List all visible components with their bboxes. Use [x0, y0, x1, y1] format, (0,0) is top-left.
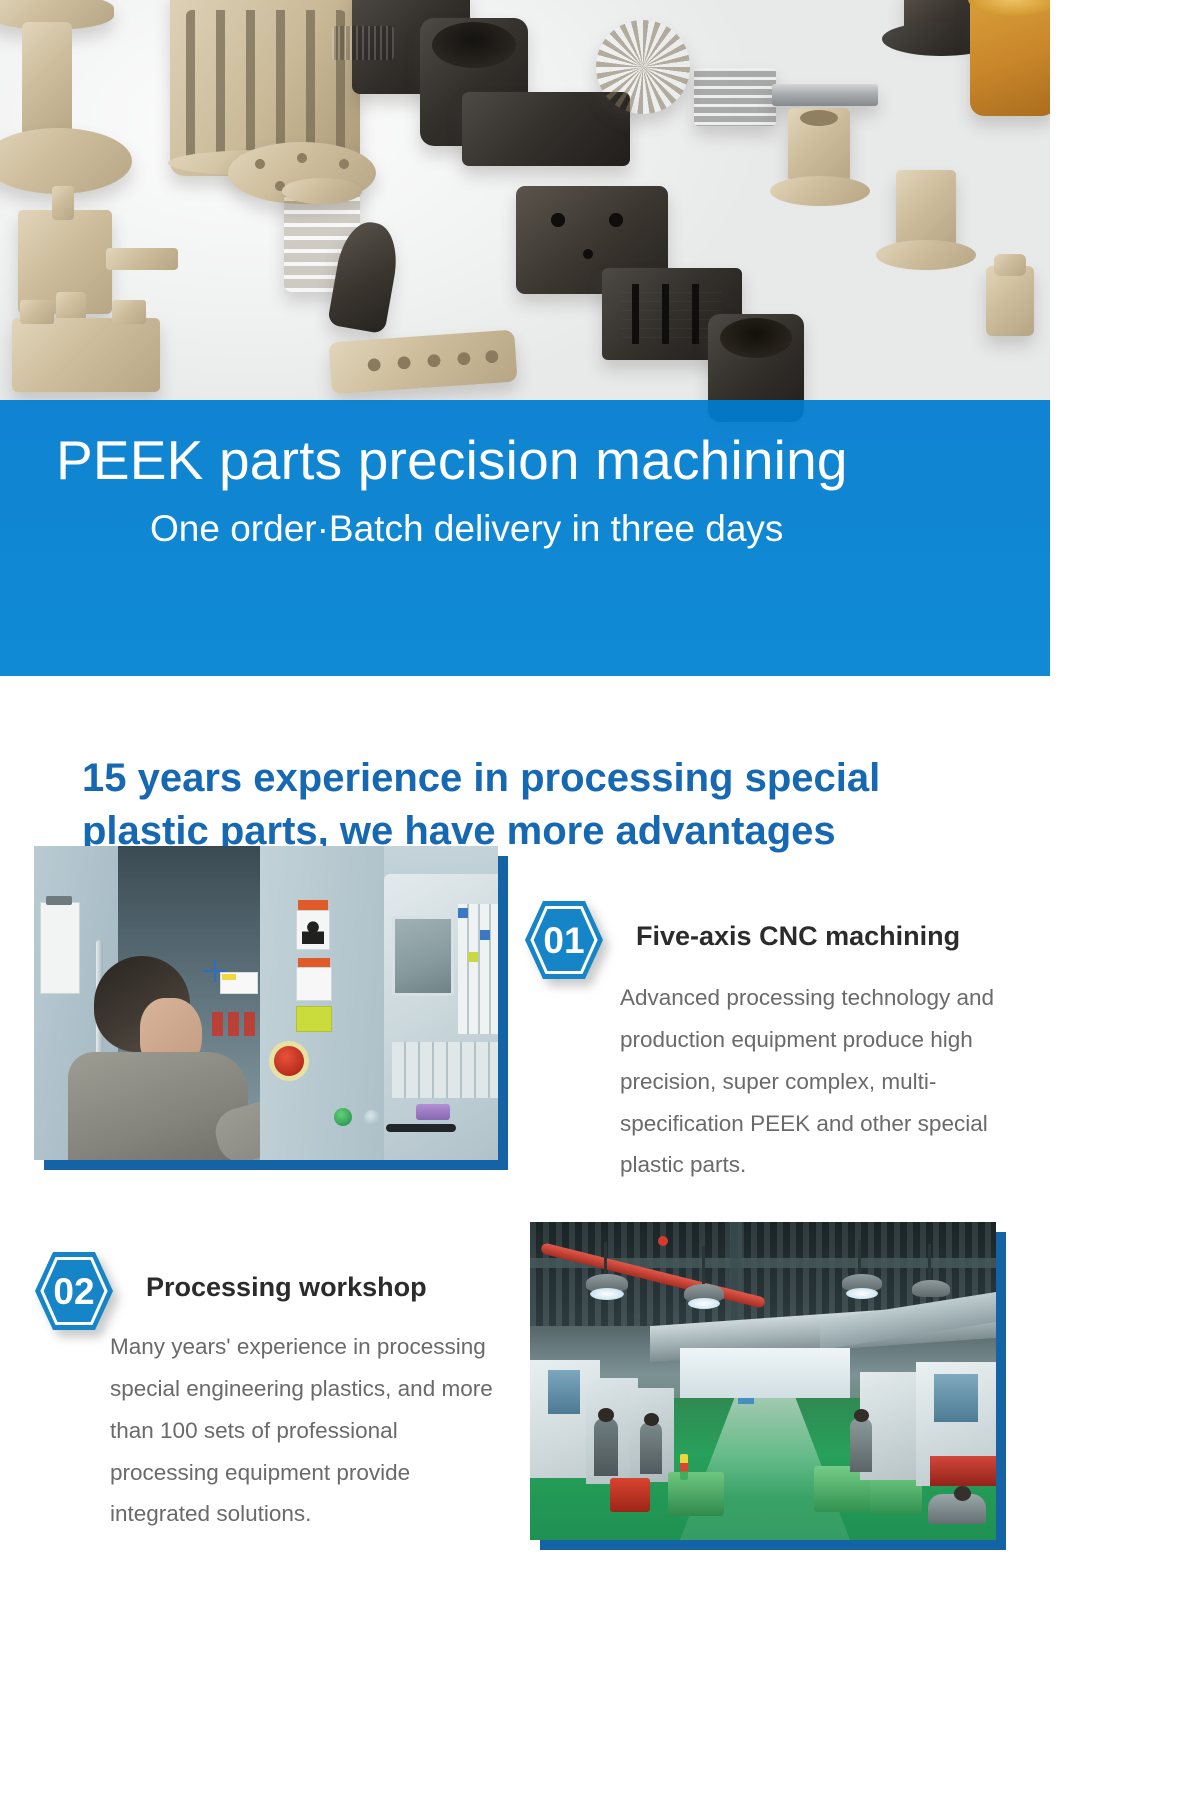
feature-02-photo — [530, 1222, 996, 1540]
cage-slot-group — [186, 10, 346, 160]
feature-02-badge: 02 — [32, 1249, 116, 1333]
feature-02-badge-number: 02 — [53, 1271, 94, 1312]
part-splined-hub — [694, 68, 776, 126]
manifold-spigot-h — [106, 248, 178, 270]
advantages-heading-line1: 15 years experience in processing specia… — [82, 752, 1042, 805]
hero-section: PEEK parts precision machining One order… — [0, 0, 1050, 676]
feature-02-title: Processing workshop — [146, 1272, 427, 1303]
plate-hole-pattern — [540, 206, 644, 272]
feature-02-photo-image — [530, 1222, 996, 1540]
feature-01-badge: 01 — [522, 898, 606, 982]
manifold-spigot-v — [52, 186, 74, 220]
bushing-bore — [800, 110, 838, 126]
part-tan-plug-cap — [994, 254, 1026, 276]
part-threaded-nipple — [332, 26, 394, 60]
feature-01-photo-image — [34, 846, 498, 1160]
part-tan-bushing-b — [896, 170, 956, 246]
dark-socket-bore — [720, 318, 792, 358]
feature-01-body: Advanced processing technology and produ… — [620, 977, 1032, 1186]
bracket-tab-left — [20, 300, 54, 324]
drilled-plate-holes — [622, 284, 722, 344]
bracket-tab-right — [112, 300, 146, 324]
part-metal-shaft — [772, 84, 878, 106]
part-tan-bushing-b-flange — [876, 240, 976, 270]
part-hydraulic-block — [462, 92, 630, 166]
part-tan-spool-stem — [22, 22, 72, 140]
hero-title-band: PEEK parts precision machining One order… — [0, 400, 1050, 676]
bushing-flange — [770, 176, 870, 206]
sleeve-rim — [282, 178, 362, 204]
feature-01-photo — [34, 846, 498, 1160]
part-amber-cup — [970, 0, 1050, 116]
product-detail-page: PEEK parts precision machining One order… — [0, 0, 1200, 1796]
feature-01-title: Five-axis CNC machining — [636, 921, 960, 952]
feature-02-body: Many years' experience in processing spe… — [110, 1326, 502, 1535]
advantages-heading: 15 years experience in processing specia… — [82, 752, 1042, 858]
bore-opening — [432, 22, 516, 68]
part-step-bracket — [12, 318, 160, 392]
part-tan-plug — [986, 266, 1034, 336]
part-tan-gear — [596, 20, 690, 114]
feature-01-badge-number: 01 — [543, 920, 584, 961]
hero-title: PEEK parts precision machining — [56, 428, 848, 492]
hero-subtitle: One order·Batch delivery in three days — [150, 508, 783, 550]
